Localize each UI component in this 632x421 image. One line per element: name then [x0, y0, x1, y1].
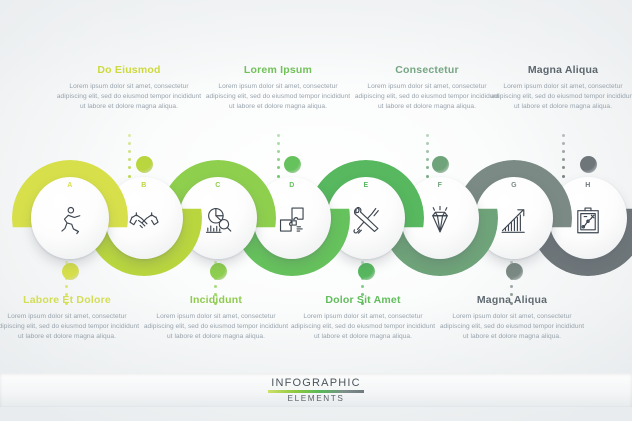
- step-node-a[interactable]: A: [12, 160, 128, 276]
- connector-dot: [426, 134, 429, 137]
- bottom-section-3-title: Magna Aliqua: [437, 294, 587, 306]
- tools-icon: [349, 203, 383, 237]
- step-knob-a: [62, 263, 79, 280]
- connector-dot: [65, 285, 68, 288]
- step-knob-f: [432, 156, 449, 173]
- connector-dot: [361, 285, 364, 288]
- step-knob-b: [136, 156, 153, 173]
- handshake-icon: [127, 203, 161, 237]
- top-section-1-body: Lorem ipsum dolor sit amet, consectetur …: [203, 82, 353, 113]
- connector-dot: [277, 134, 280, 137]
- top-section-3-title: Magna Aliqua: [488, 64, 632, 76]
- bottom-section-1: Incididunt Lorem ipsum dolor sit amet, c…: [141, 294, 291, 343]
- step-knob-h: [580, 156, 597, 173]
- step-knob-c: [210, 263, 227, 280]
- puzzle-pieces-icon: [275, 203, 309, 237]
- bottom-section-2-body: Lorem ipsum dolor sit amet, consectetur …: [288, 312, 438, 343]
- logo-divider: [268, 390, 364, 393]
- diamond-icon: [423, 203, 457, 237]
- step-chain: A B: [0, 160, 632, 275]
- bottom-section-1-title: Incididunt: [141, 294, 291, 306]
- top-section-3-body: Lorem ipsum dolor sit amet, consectetur …: [488, 82, 632, 113]
- step-knob-e: [358, 263, 375, 280]
- step-letter-a: A: [31, 182, 109, 189]
- bottom-section-0-title: Labore Et Dolore: [0, 294, 142, 306]
- step-knob-d: [284, 156, 301, 173]
- connector-dot: [426, 142, 429, 145]
- step-disc-a[interactable]: A: [31, 177, 109, 259]
- bottom-section-1-body: Lorem ipsum dolor sit amet, consectetur …: [141, 312, 291, 343]
- bottom-section-2: Dolor Sit Amet Lorem ipsum dolor sit ame…: [288, 294, 438, 343]
- top-section-3: Magna Aliqua Lorem ipsum dolor sit amet,…: [488, 64, 632, 113]
- pie-chart-search-icon: [201, 203, 235, 237]
- connector-dot: [562, 142, 565, 145]
- connector-dot: [562, 150, 565, 153]
- connector-dot: [128, 142, 131, 145]
- connector-dot: [277, 142, 280, 145]
- top-section-2-body: Lorem ipsum dolor sit amet, consectetur …: [352, 82, 502, 113]
- connector-dot: [214, 285, 217, 288]
- bottom-section-0: Labore Et Dolore Lorem ipsum dolor sit a…: [0, 294, 142, 343]
- connector-dot: [562, 134, 565, 137]
- logo-line-2: ELEMENTS: [0, 394, 632, 403]
- top-section-0-title: Do Eiusmod: [54, 64, 204, 76]
- clipboard-strategy-icon: [571, 203, 605, 237]
- top-section-0: Do Eiusmod Lorem ipsum dolor sit amet, c…: [54, 64, 204, 113]
- top-section-1: Lorem Ipsum Lorem ipsum dolor sit amet, …: [203, 64, 353, 113]
- growth-chart-icon: [497, 203, 531, 237]
- bottom-section-0-body: Lorem ipsum dolor sit amet, consectetur …: [0, 312, 142, 343]
- connector-dot: [277, 150, 280, 153]
- connector-dot: [426, 150, 429, 153]
- infographic-canvas: Do Eiusmod Lorem ipsum dolor sit amet, c…: [0, 0, 632, 421]
- bottom-section-3-body: Lorem ipsum dolor sit amet, consectetur …: [437, 312, 587, 343]
- top-section-0-body: Lorem ipsum dolor sit amet, consectetur …: [54, 82, 204, 113]
- logo-line-1: INFOGRAPHIC: [0, 377, 632, 389]
- footer-logo: INFOGRAPHIC ELEMENTS: [0, 377, 632, 403]
- step-knob-g: [506, 263, 523, 280]
- running-person-icon: [53, 203, 87, 237]
- bottom-section-3: Magna Aliqua Lorem ipsum dolor sit amet,…: [437, 294, 587, 343]
- connector-dot: [128, 134, 131, 137]
- bottom-section-2-title: Dolor Sit Amet: [288, 294, 438, 306]
- top-section-2-title: Consectetur: [352, 64, 502, 76]
- connector-dot: [510, 285, 513, 288]
- top-section-2: Consectetur Lorem ipsum dolor sit amet, …: [352, 64, 502, 113]
- top-section-1-title: Lorem Ipsum: [203, 64, 353, 76]
- connector-dot: [128, 150, 131, 153]
